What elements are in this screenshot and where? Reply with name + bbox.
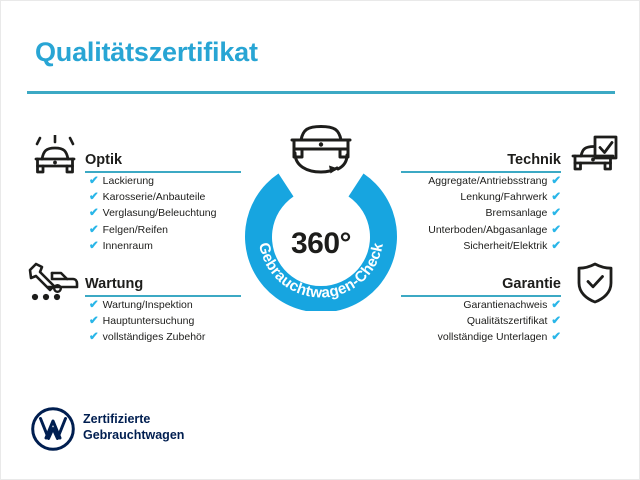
list-item-label: Sicherheit/Elektrik [463,240,547,252]
check-icon: ✔ [551,297,561,313]
check-icon: ✔ [89,329,99,345]
list-item-label: Garantienachweis [463,299,547,311]
section-technik: Technik Aggregate/Antriebsstrang✔ Lenkun… [401,143,561,254]
section-optik-list: ✔Lackierung ✔Karosserie/Anbauteile ✔Verg… [85,173,241,254]
check-icon: ✔ [551,222,561,238]
list-item-label: Wartung/Inspektion [103,299,193,311]
list-item: Aggregate/Antriebsstrang✔ [401,173,561,189]
list-item: ✔Verglasung/Beleuchtung [89,205,241,221]
section-wartung: Wartung ✔Wartung/Inspektion ✔Hauptunters… [85,267,241,346]
check-icon: ✔ [89,313,99,329]
list-item: ✔Karosserie/Anbauteile [89,189,241,205]
section-optik-divider [85,171,241,173]
list-item: ✔Innenraum [89,238,241,254]
list-item-label: Qualitätszertifikat [467,315,548,327]
list-item: ✔vollständiges Zubehör [89,329,241,345]
section-optik: Optik ✔Lackierung ✔Karosserie/Anbauteile… [85,143,241,254]
check-icon: ✔ [89,222,99,238]
check-icon: ✔ [89,238,99,254]
quality-certificate-page: Qualitätszertifikat [0,0,640,480]
list-item-label: Hauptuntersuchung [103,315,195,327]
list-item: Garantienachweis✔ [401,297,561,313]
section-wartung-list: ✔Wartung/Inspektion ✔Hauptuntersuchung ✔… [85,297,241,346]
section-wartung-title: Wartung [85,276,143,292]
list-item-label: vollständige Unterlagen [438,331,548,343]
vw-line-1: Zertifizierte [83,411,184,427]
360-check-badge: Gebrauchtwagen-Check 360° [235,121,407,311]
header-divider [27,91,615,94]
section-garantie: Garantie Garantienachweis✔ Qualitätszert… [401,267,561,346]
section-technik-title: Technik [507,152,561,168]
section-technik-head: Technik [401,143,561,173]
car-rotate-360-icon [281,121,361,183]
check-icon: ✔ [89,205,99,221]
list-item: Sicherheit/Elektrik✔ [401,238,561,254]
shield-check-icon [574,261,616,310]
section-garantie-head: Garantie [401,267,561,297]
check-icon: ✔ [89,297,99,313]
list-item: Bremsanlage✔ [401,205,561,221]
list-item-label: Lenkung/Fahrwerk [460,191,547,203]
wrench-car-service-icon [26,260,80,309]
vw-roundel-logo [31,407,75,451]
list-item: ✔Wartung/Inspektion [89,297,241,313]
vw-line-2: Gebrauchtwagen [83,427,184,443]
section-optik-head: Optik [85,143,241,173]
list-item: Qualitätszertifikat✔ [401,313,561,329]
list-item: ✔Hauptuntersuchung [89,313,241,329]
check-icon: ✔ [551,205,561,221]
check-icon: ✔ [551,313,561,329]
list-item-label: Lackierung [103,175,154,187]
check-icon: ✔ [551,189,561,205]
list-item-label: vollständiges Zubehör [103,331,206,343]
section-garantie-list: Garantienachweis✔ Qualitätszertifikat✔ v… [401,297,561,346]
car-checkbox-icon [569,135,619,184]
page-title: Qualitätszertifikat [35,37,258,68]
check-icon: ✔ [89,173,99,189]
list-item-label: Bremsanlage [485,207,547,219]
badge-degrees-label: 360° [235,227,407,261]
list-item: vollständige Unterlagen✔ [401,329,561,345]
list-item-label: Unterboden/Abgasanlage [428,224,547,236]
list-item: ✔Felgen/Reifen [89,222,241,238]
section-technik-list: Aggregate/Antriebsstrang✔ Lenkung/Fahrwe… [401,173,561,254]
check-icon: ✔ [551,329,561,345]
section-wartung-head: Wartung [85,267,241,297]
list-item-label: Innenraum [103,240,153,252]
section-technik-divider [401,171,561,173]
check-icon: ✔ [551,238,561,254]
list-item: Unterboden/Abgasanlage✔ [401,222,561,238]
check-icon: ✔ [89,189,99,205]
list-item-label: Verglasung/Beleuchtung [103,207,217,219]
list-item-label: Aggregate/Antriebsstrang [428,175,547,187]
vw-wordmark: Zertifizierte Gebrauchtwagen [83,411,184,443]
check-icon: ✔ [551,173,561,189]
section-optik-title: Optik [85,152,122,168]
section-garantie-title: Garantie [502,276,561,292]
list-item: Lenkung/Fahrwerk✔ [401,189,561,205]
list-item: ✔Lackierung [89,173,241,189]
section-wartung-divider [85,295,241,297]
list-item-label: Karosserie/Anbauteile [103,191,206,203]
car-front-shine-icon [29,135,81,184]
list-item-label: Felgen/Reifen [103,224,168,236]
section-garantie-divider [401,295,561,297]
